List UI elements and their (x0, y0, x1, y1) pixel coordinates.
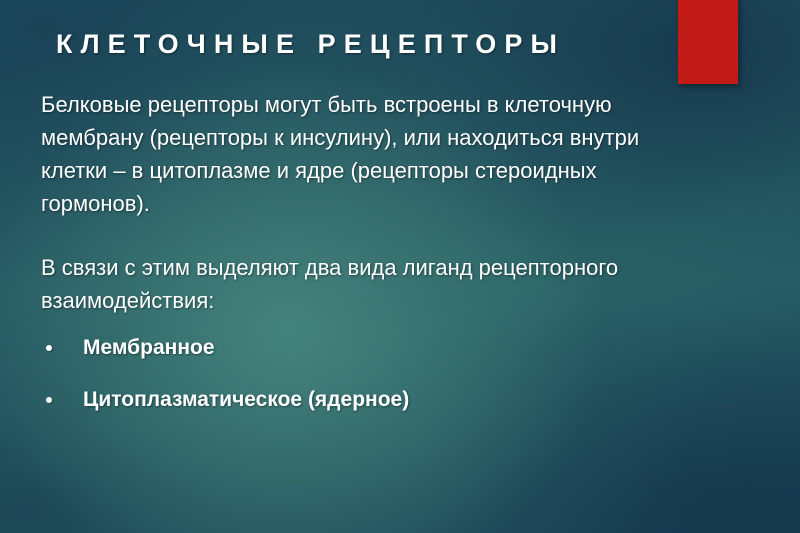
bullet-label: Цитоплазматическое (ядерное) (83, 388, 409, 411)
list-item: Мембранное (41, 334, 731, 362)
body-paragraph-1: Белковые рецепторы могут быть встроены в… (41, 88, 709, 220)
list-item: Цитоплазматическое (ядерное) (41, 386, 731, 414)
presentation-slide: КЛЕТОЧНЫЕ РЕЦЕПТОРЫ Белковые рецепторы м… (0, 0, 800, 533)
slide-body: Белковые рецепторы могут быть встроены в… (41, 88, 731, 438)
bullet-dot-icon (46, 345, 52, 351)
bullet-label: Мембранное (83, 336, 215, 359)
paragraph-spacer (41, 220, 731, 251)
accent-red-block (678, 0, 738, 84)
body-paragraph-2: В связи с этим выделяют два вида лиганд … (41, 251, 661, 317)
slide-title: КЛЕТОЧНЫЕ РЕЦЕПТОРЫ (56, 27, 656, 61)
bullet-list: Мембранное Цитоплазматическое (ядерное) (41, 334, 731, 414)
bullet-dot-icon (46, 397, 52, 403)
